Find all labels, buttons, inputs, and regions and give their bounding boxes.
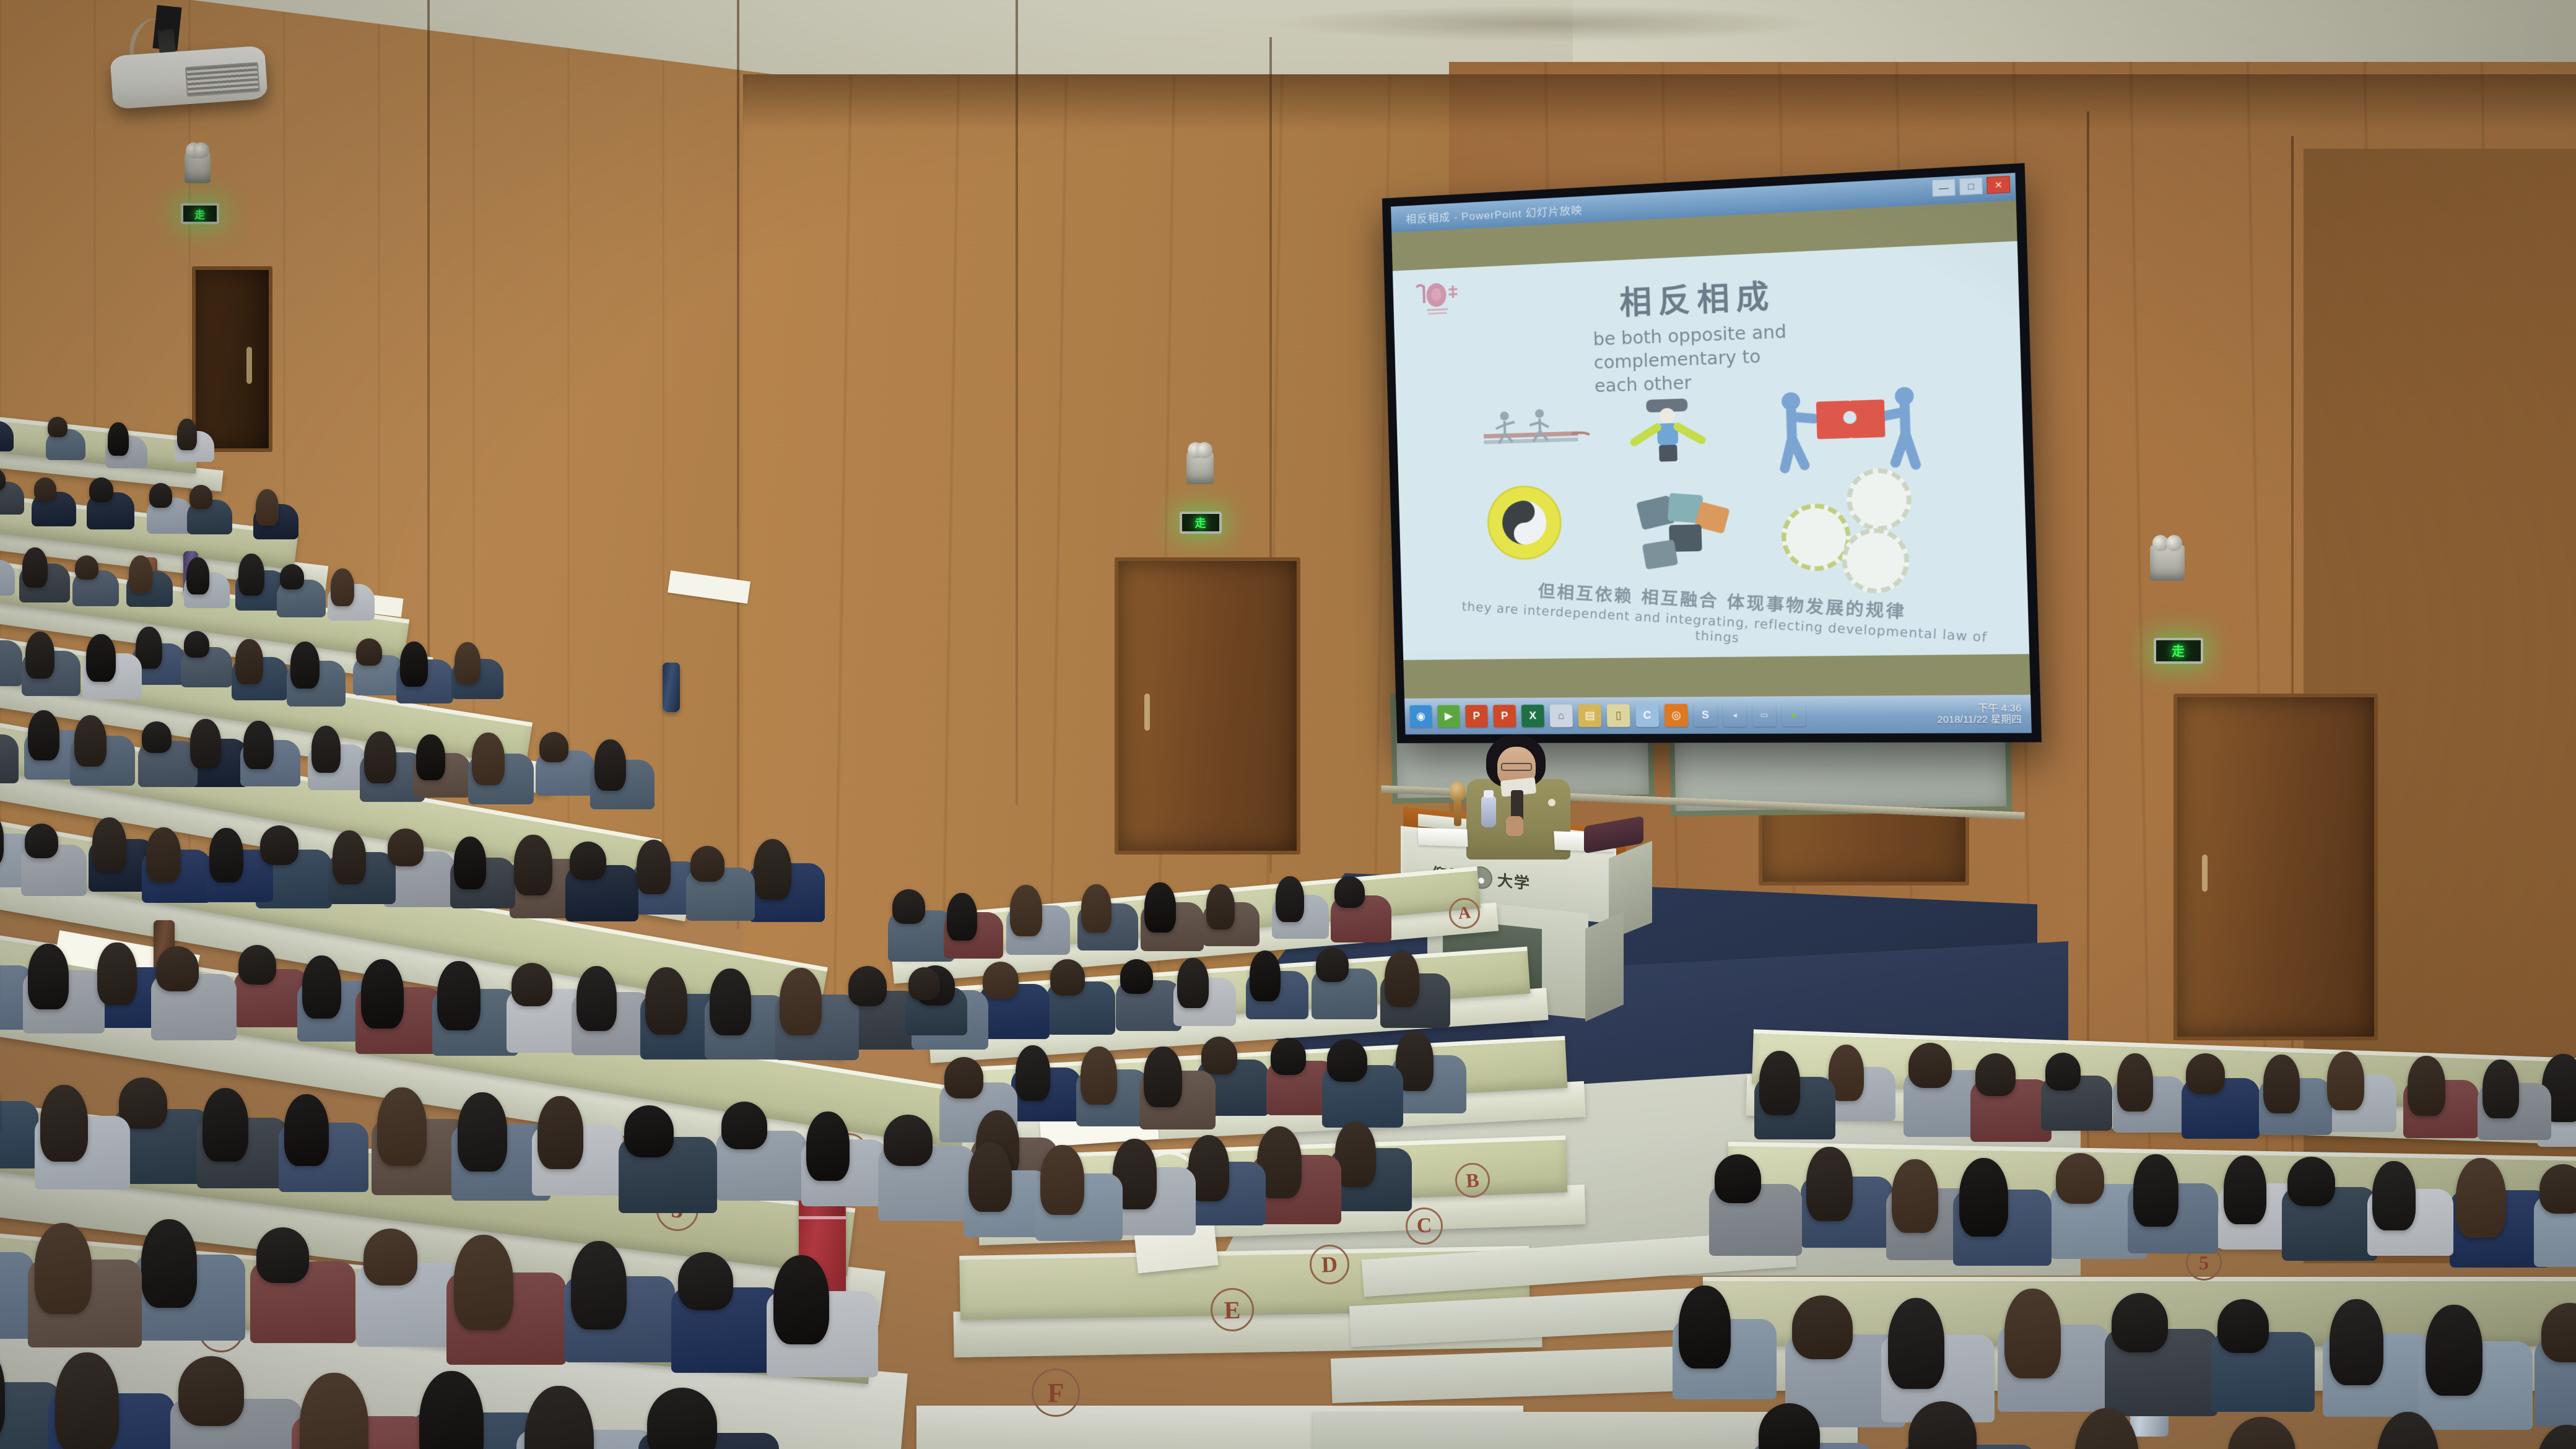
audience-member-head [1271,1038,1306,1075]
audience-member-head [141,1219,196,1308]
audience-member-head [1081,1046,1117,1105]
audience-member-head [356,638,382,666]
audience-member-head [892,889,925,924]
audience-member-head [2224,1155,2266,1224]
audience-member-head [419,1371,484,1449]
audience-member-head [2327,1051,2364,1110]
audience-member-head [1892,1159,1938,1234]
audience-member-head [400,642,429,687]
audience-member-head [260,825,298,866]
audience-member-head [454,1235,513,1330]
audience-member-head [1792,1295,1852,1359]
audience-member-head [2456,1158,2506,1238]
audience-member-body [0,421,14,451]
audience-member-head [178,1356,245,1425]
audience-member-head [416,734,445,781]
audience-member-head [848,966,887,1006]
audience-member-head [388,829,424,866]
audience-member-head [1144,882,1176,933]
audience-member-head [364,731,396,783]
audience-member-head [455,642,481,684]
audience-member-head [511,963,552,1006]
audience-member-head [1010,885,1042,936]
audience-member-head [2426,1305,2482,1396]
audience-member-head [256,1227,309,1283]
microphone-head [1450,781,1466,801]
audience-member-body [0,1101,38,1168]
audience-member-head [1040,1145,1084,1215]
bottle-cap [1484,790,1494,798]
audience-member-head [2482,1060,2519,1118]
podium-papers-left [1417,828,1468,847]
audience-member-head [1679,1286,1731,1369]
audience-member-head [149,483,172,507]
audience-member-head [1888,1298,1945,1388]
audience-member-head [472,733,505,785]
audience-member-head [721,1102,767,1149]
audience-member-head [524,1386,594,1449]
audience-member-head [908,967,939,1000]
audience-member-head [235,639,263,684]
audience-member-head [2263,1055,2300,1113]
audience-member-head [2133,1154,2178,1226]
audience-member-head [238,945,276,985]
audience-member-head [773,1255,829,1344]
audience-member-head [2045,1053,2081,1090]
audience-member-head [458,1092,507,1172]
audience-member-head [1385,951,1420,1007]
audience-member-head [2217,1299,2269,1354]
audience-member-head [284,1094,329,1166]
audience-member-head [22,547,48,588]
audience-member-body [0,734,19,783]
audience-member-head [1715,1154,1761,1203]
audience-member-head [331,568,354,606]
audience-member-head [1081,884,1112,933]
audience-member-head [28,710,59,761]
audience-member-head [968,1142,1012,1212]
audience-member-head [514,835,552,895]
audience-member-head [48,417,67,438]
audience-member-head [89,477,113,502]
audience-member-head [25,824,58,858]
audience-member-head [947,893,977,941]
audience-member-head [454,837,487,889]
audience-member-head [577,966,617,1031]
water-bottle [1481,796,1496,827]
audience-member-head [2330,1299,2383,1385]
audience-member-head [186,557,209,594]
audience-member-head [280,564,304,590]
audience-member-head [2004,1289,2061,1378]
audience-member-body [0,560,15,595]
thermos-ring [799,1216,846,1219]
audience-member-head [256,489,279,526]
audience-member-head [97,942,136,1005]
audience-member-head [2056,1153,2104,1204]
audience-member-head [1201,1037,1237,1075]
speaker-lapel-pin [1548,799,1556,806]
audience-member-head [363,1229,417,1285]
audience-member-head [645,967,687,1035]
audience-member-head [189,485,212,508]
audience-member-head [300,1373,368,1449]
audience-member-head [754,839,791,900]
audience-member-head [1177,958,1208,1008]
audience-member-head [92,817,126,872]
audience-member-head [1759,1051,1799,1116]
audience-member-head [86,634,116,682]
audience-member-head [1206,884,1235,929]
audience-member-head [884,1115,932,1166]
audience-member-head [190,719,221,768]
audience-member-head [35,1223,92,1314]
audience-member-head [1144,1046,1181,1107]
audience-member-head [184,631,210,658]
audience-member-head [2541,1303,2576,1363]
audience-member-head [2112,1293,2168,1352]
audience-member-head [1250,951,1281,1001]
audience-member-head [1334,876,1365,908]
audience-member-head [2535,1425,2576,1449]
thermos-blue-left [663,663,680,712]
audience-member-head [2372,1161,2416,1230]
audience-member-head [1975,1053,2016,1096]
audience-member-head [1050,959,1085,996]
audience-member-head [570,842,606,880]
audience-member-head [243,721,274,769]
audience-member-head [678,1252,733,1310]
audience-member-head [2117,1053,2154,1112]
audience-member-head [2539,1164,2576,1214]
audience-member-head [1335,1121,1376,1187]
audience-member-head [302,955,341,1018]
audience-member-head [202,1088,248,1162]
audience-member-head [290,642,320,689]
audience-member-head [55,1352,119,1449]
audience-member-head [571,1241,626,1329]
audience-member-head [108,422,129,456]
audience-member-head [1806,1147,1853,1221]
audience-member-head [146,827,181,883]
audience-member-head [1959,1158,2008,1237]
audience-member-head [594,739,627,791]
lecture-hall-photo: 走 走 走 相反相成 - PowerPoint 幻灯片放映 [0,0,2576,1449]
audience-member-head [25,632,54,679]
audience-member-head [806,1112,850,1181]
audience-member-head [1276,876,1304,922]
audience-member-head [780,968,822,1035]
audience-member-head [1908,1043,1951,1088]
audience-member-head [647,1388,718,1449]
audience-member-head [2228,1417,2295,1449]
audience-member-head [2408,1056,2445,1116]
audience-member-head [983,962,1018,999]
audience-member-head [333,830,366,884]
audience-member-head [361,959,404,1029]
audience [0,0,2576,1449]
audience-member-head [34,477,56,501]
audience-member-head [944,1057,983,1098]
audience-member-head [437,961,481,1030]
audience-member-head [209,828,243,882]
audience-member-head [28,944,69,1009]
audience-member-head [1120,959,1153,994]
audience-member-head [129,555,152,593]
audience-member-head [1016,1045,1050,1101]
audience-member-head [177,419,197,450]
audience-member-head [2186,1053,2225,1094]
audience-member-head [624,1105,674,1157]
audience-member-head [311,726,341,773]
audience-member-head [2287,1157,2335,1207]
audience-member-head [537,1096,583,1169]
audience-member-head [377,1087,427,1166]
audience-member-head [1327,1039,1367,1082]
audience-member-head [74,715,107,767]
audience-member-head [40,1085,88,1162]
audience-member-head [238,554,264,595]
audience-member-head [539,732,568,763]
audience-member-body [0,640,22,686]
audience-member-head [690,846,724,882]
audience-member-head [1316,947,1349,982]
audience-member-head [710,968,751,1035]
audience-member-head [142,721,172,753]
speaker-hand [1506,816,1523,836]
audience-member-head [637,840,671,894]
audience-member-head [75,555,98,580]
audience-member-head [156,946,199,991]
speaker-glasses [1501,763,1532,771]
